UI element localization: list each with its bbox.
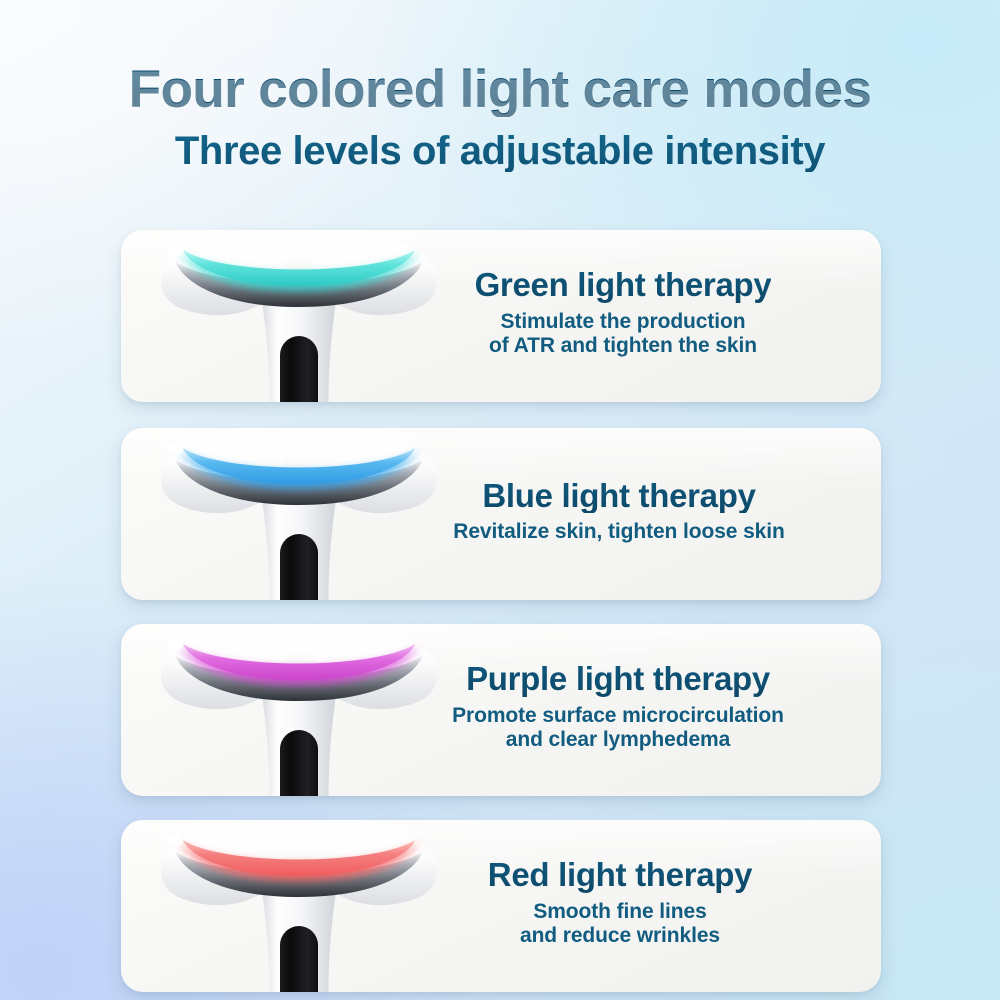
card-text-blue: Blue light therapy Revitalize skin, tigh… xyxy=(369,428,869,600)
card-desc-blue: Revitalize skin, tighten loose skin xyxy=(453,520,784,544)
mode-card-green[interactable]: Green light therapy Stimulate the produc… xyxy=(121,230,881,402)
card-desc-green: Stimulate the production of ATR and tigh… xyxy=(489,310,757,359)
card-text-green: Green light therapy Stimulate the produc… xyxy=(383,230,863,402)
card-title-green: Green light therapy xyxy=(475,267,772,303)
card-title-purple: Purple light therapy xyxy=(466,661,770,697)
mode-card-purple[interactable]: Purple light therapy Promote surface mic… xyxy=(121,624,881,796)
mode-card-red[interactable]: Red light therapy Smooth fine lines and … xyxy=(121,820,881,992)
header-block: Four colored light care modes Three leve… xyxy=(0,0,1000,172)
mode-card-blue[interactable]: Blue light therapy Revitalize skin, tigh… xyxy=(121,428,881,600)
card-title-blue: Blue light therapy xyxy=(482,478,755,514)
card-title-red: Red light therapy xyxy=(488,857,752,893)
page-title: Four colored light care modes xyxy=(0,62,1000,117)
page-subtitle: Three levels of adjustable intensity xyxy=(0,130,1000,172)
card-desc-red: Smooth fine lines and reduce wrinkles xyxy=(520,900,720,949)
card-text-purple: Purple light therapy Promote surface mic… xyxy=(363,624,873,796)
infographic-page: Four colored light care modes Three leve… xyxy=(0,0,1000,1000)
card-text-red: Red light therapy Smooth fine lines and … xyxy=(395,820,845,992)
card-desc-purple: Promote surface microcirculation and cle… xyxy=(452,704,784,753)
